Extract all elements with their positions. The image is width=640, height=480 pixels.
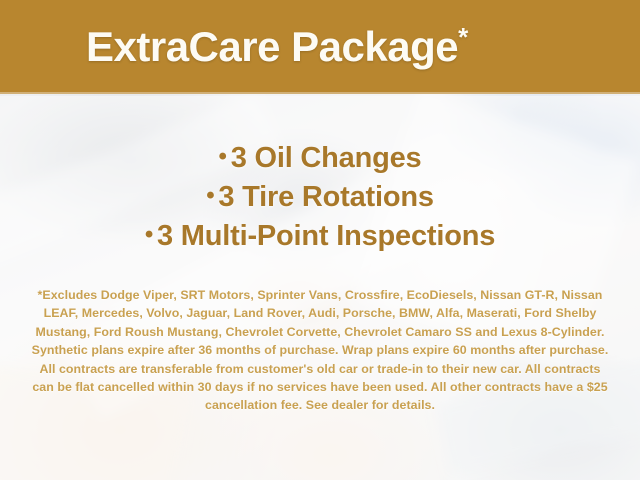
bullet-icon: • bbox=[219, 143, 231, 170]
page-title: ExtraCare Package* bbox=[86, 26, 468, 68]
list-item: •3 Tire Rotations bbox=[0, 177, 640, 216]
list-item-label: 3 Multi-Point Inspections bbox=[157, 220, 495, 252]
extracare-package-promo-card: ExtraCare Package* •3 Oil Changes •3 Tir… bbox=[0, 0, 640, 480]
list-item-label: 3 Tire Rotations bbox=[218, 181, 433, 213]
bullet-icon: • bbox=[206, 182, 218, 209]
disclaimer-fine-print: *Excludes Dodge Viper, SRT Motors, Sprin… bbox=[28, 286, 612, 415]
disclaimer-text: *Excludes Dodge Viper, SRT Motors, Sprin… bbox=[28, 286, 612, 415]
benefits-list: •3 Oil Changes •3 Tire Rotations •3 Mult… bbox=[0, 138, 640, 255]
list-item: •3 Multi-Point Inspections bbox=[0, 216, 640, 255]
bullet-icon: • bbox=[145, 221, 157, 248]
header-banner: ExtraCare Package* bbox=[0, 0, 640, 94]
list-item: •3 Oil Changes bbox=[0, 138, 640, 177]
page-title-text: ExtraCare Package bbox=[86, 23, 458, 70]
page-title-asterisk: * bbox=[458, 22, 468, 52]
list-item-label: 3 Oil Changes bbox=[231, 142, 422, 174]
